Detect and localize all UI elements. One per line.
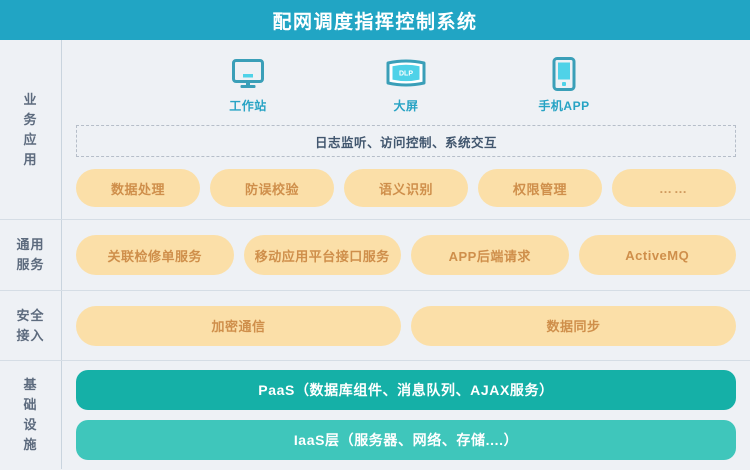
common-service-pill[interactable]: 关联检修单服务 [76,235,234,275]
common-service-pill[interactable]: ActiveMQ [579,235,737,275]
client-workstation[interactable]: 工作站 [201,56,295,114]
layer-row-common-services: 通用 服务 关联检修单服务 移动应用平台接口服务 APP后端请求 ActiveM… [0,220,750,291]
common-service-pills: 关联检修单服务 移动应用平台接口服务 APP后端请求 ActiveMQ [76,235,736,275]
row-label-char: 施 [23,435,37,455]
row-label-common-services: 通用 服务 [0,220,62,290]
client-icon-strip: 工作站 DLP 大屏 [76,56,736,114]
row-label-char: 设 [23,415,37,435]
client-mobile-app[interactable]: 手机APP [517,56,611,114]
business-pill[interactable]: 权限管理 [478,169,602,207]
row-content-business-application: 工作站 DLP 大屏 [62,40,750,219]
layer-row-business-application: 业 务 应 用 [0,40,750,220]
row-label-text: 安全 接入 [16,306,44,346]
paas-bar[interactable]: PaaS（数据库组件、消息队列、AJAX服务） [76,370,736,410]
workstation-monitor-icon [231,56,265,92]
row-label-char: 业 [23,90,37,110]
client-caption: 大屏 [393,97,418,114]
row-label-char: 通用 [16,235,44,255]
layer-row-secure-access: 安全 接入 加密通信 数据同步 [0,291,750,361]
architecture-diagram: 配网调度指挥控制系统 业 务 应 用 [0,0,750,470]
cross-cutting-services-bar: 日志监听、访问控制、系统交互 [76,125,736,157]
row-label-char: 础 [23,395,37,415]
row-label-char: 基 [23,375,37,395]
common-service-pill[interactable]: 移动应用平台接口服务 [244,235,402,275]
business-application-pills: 数据处理 防误校验 语义识别 权限管理 …… [76,169,736,207]
secure-access-pills: 加密通信 数据同步 [76,306,736,346]
layer-rows: 业 务 应 用 [0,40,750,469]
secure-access-pill[interactable]: 加密通信 [76,306,401,346]
row-content-infrastructure: PaaS（数据库组件、消息队列、AJAX服务） IaaS层（服务器、网络、存储.… [62,361,750,469]
row-label-char: 服务 [16,255,44,275]
row-label-char: 接入 [16,326,44,346]
row-label-char: 用 [23,150,37,170]
page-title: 配网调度指挥控制系统 [272,7,477,34]
mobile-phone-icon [552,56,576,92]
dlp-screen-label: DLP [399,70,413,77]
infrastructure-bars: PaaS（数据库组件、消息队列、AJAX服务） IaaS层（服务器、网络、存储.… [76,370,736,460]
cross-cutting-services-text: 日志监听、访问控制、系统交互 [315,132,497,151]
business-pill[interactable]: 语义识别 [344,169,468,207]
secure-access-pill[interactable]: 数据同步 [411,306,736,346]
client-caption: 工作站 [229,97,267,114]
client-caption: 手机APP [538,97,589,114]
business-pill[interactable]: 防误校验 [210,169,334,207]
layer-row-infrastructure: 基 础 设 施 PaaS（数据库组件、消息队列、AJAX服务） IaaS层（服务… [0,361,750,469]
row-label-infrastructure: 基 础 设 施 [0,361,62,469]
large-screen-dlp-icon: DLP [385,56,427,92]
row-label-text: 通用 服务 [16,235,44,275]
row-label-char: 应 [23,130,37,150]
row-label-secure-access: 安全 接入 [0,291,62,360]
row-label-text: 基 础 设 施 [23,375,37,455]
row-content-common-services: 关联检修单服务 移动应用平台接口服务 APP后端请求 ActiveMQ [62,220,750,290]
business-pill[interactable]: 数据处理 [76,169,200,207]
business-pill-more[interactable]: …… [612,169,736,207]
iaas-bar[interactable]: IaaS层（服务器、网络、存储....） [76,420,736,460]
client-large-screen[interactable]: DLP 大屏 [359,56,453,114]
common-service-pill[interactable]: APP后端请求 [411,235,569,275]
row-content-secure-access: 加密通信 数据同步 [62,291,750,360]
row-label-char: 安全 [16,306,44,326]
row-label-char: 务 [23,110,37,130]
row-label-text: 业 务 应 用 [23,90,37,170]
page-header: 配网调度指挥控制系统 [0,0,750,40]
row-label-business-application: 业 务 应 用 [0,40,62,219]
